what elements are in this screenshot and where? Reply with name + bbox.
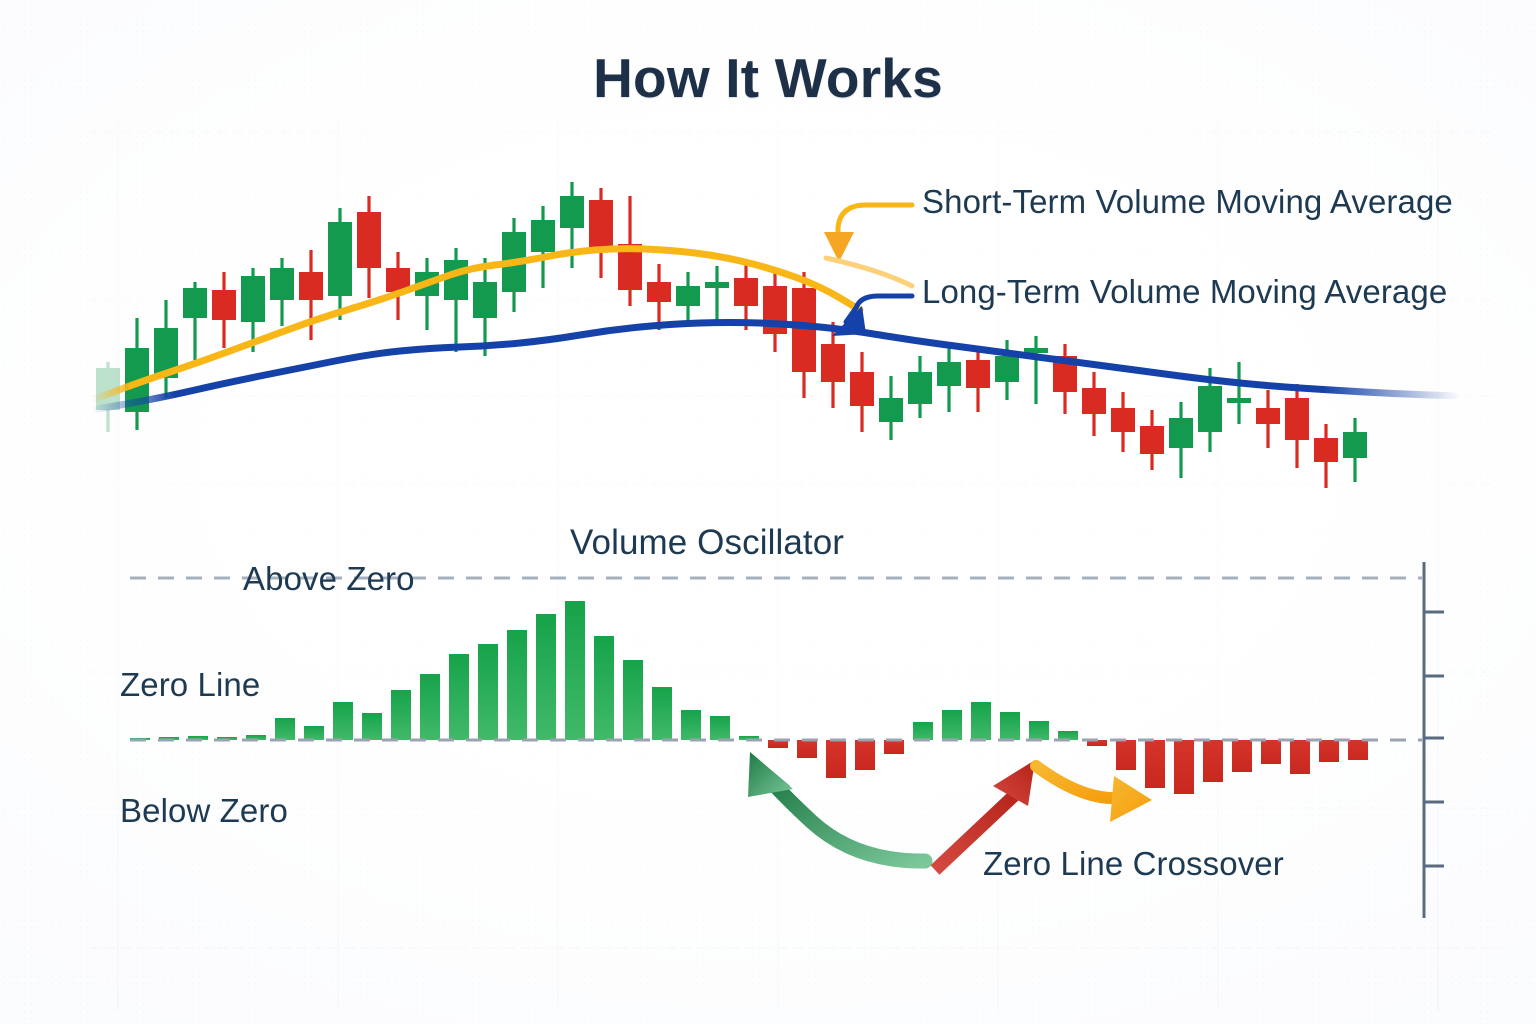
above-zero-label: Above Zero (243, 560, 415, 598)
below-zero-label: Below Zero (120, 792, 288, 830)
crossover-arrows (0, 0, 1536, 1024)
orange-curved-arrow (1036, 766, 1152, 822)
volume-oscillator-title: Volume Oscillator (570, 523, 844, 563)
short-term-ma-label: Short-Term Volume Moving Average (922, 183, 1453, 221)
infographic-canvas: How It Works (0, 0, 1536, 1024)
green-curved-arrow (748, 752, 925, 861)
zero-line-label: Zero Line (120, 666, 260, 704)
zero-line-crossover-label: Zero Line Crossover (983, 845, 1284, 883)
long-term-ma-label: Long-Term Volume Moving Average (922, 273, 1447, 311)
